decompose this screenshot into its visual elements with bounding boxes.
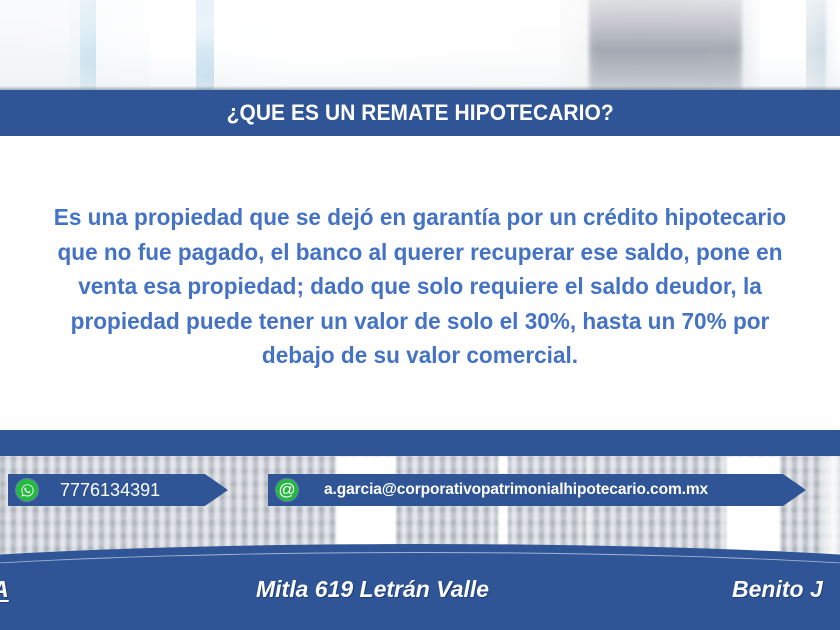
email-address[interactable]: a.garcia@corporativopatrimonialhipotecar… [324,481,708,499]
email-contact-badge[interactable]: @ a.garcia@corporativopatrimonialhipotec… [268,474,806,506]
facade-light-gap-2 [498,456,508,556]
facade-light-gap-4 [726,456,780,556]
body-paragraph: Es una propiedad que se dejó en garantía… [42,200,799,373]
photo-haze-overlay [0,0,840,90]
facade-light-gap-3 [586,456,590,556]
building-facade-texture [0,456,840,556]
at-icon: @ [276,479,298,501]
address-strip: TLA Mitla 619 Letrán Valle Benito J [0,566,840,618]
at-glyph: @ [278,481,295,498]
slide-canvas: ¿QUE ES UN REMATE HIPOTECARIO? Es una pr… [0,0,840,630]
whatsapp-icon [16,479,38,501]
address-middle: Mitla 619 Letrán Valle [256,576,489,603]
whatsapp-contact-badge[interactable]: 7776134391 [8,474,228,506]
bottom-fill-bar [0,618,840,630]
facade-light-gap-5 [824,456,840,556]
title-banner: ¿QUE ES UN REMATE HIPOTECARIO? [0,90,840,136]
mid-divider-bar [0,430,840,456]
top-photo-banner [0,0,840,90]
whatsapp-number[interactable]: 7776134391 [60,480,160,501]
address-right: Benito J [732,576,823,603]
body-area: Es una propiedad que se dejó en garantía… [0,136,840,430]
page-title: ¿QUE ES UN REMATE HIPOTECARIO? [226,100,613,126]
address-left: TLA [0,576,9,603]
facade-light-gap-1 [336,456,396,556]
